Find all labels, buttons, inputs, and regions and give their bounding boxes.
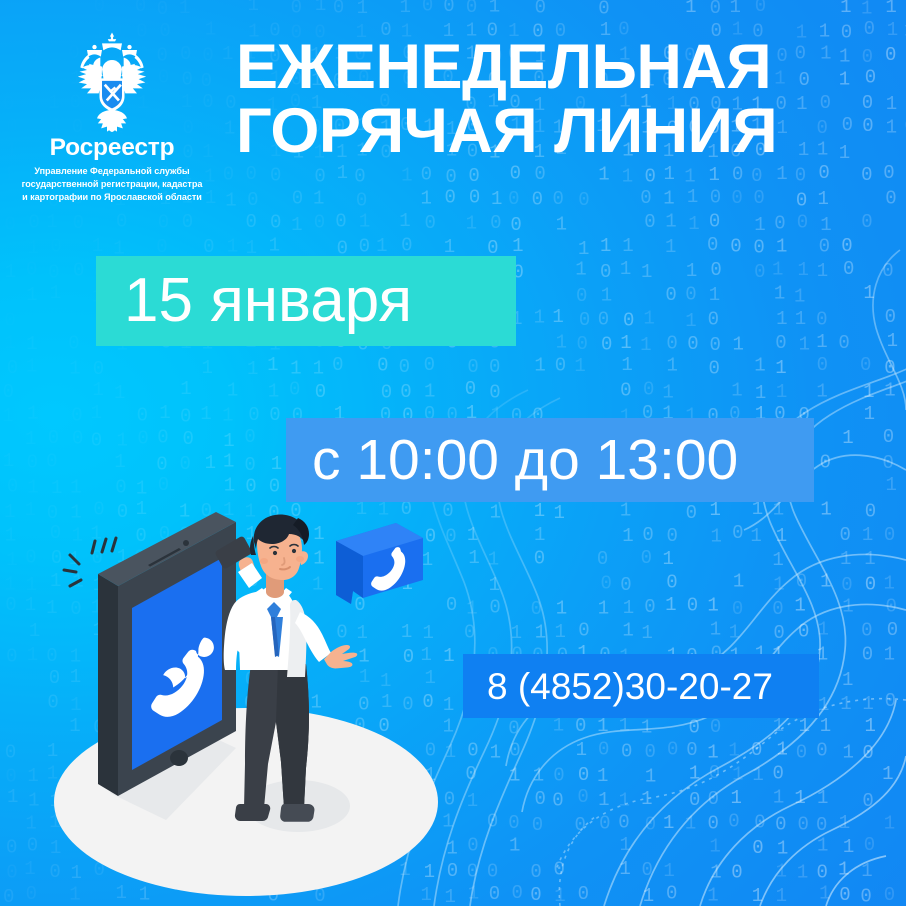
svg-text:0: 0 xyxy=(510,214,521,236)
svg-text:0: 0 xyxy=(601,334,612,356)
svg-text:0: 0 xyxy=(708,309,719,331)
svg-text:0: 0 xyxy=(48,262,59,284)
svg-text:1: 1 xyxy=(490,742,501,764)
svg-text:1: 1 xyxy=(886,474,897,496)
svg-text:0: 0 xyxy=(578,189,589,211)
svg-text:1: 1 xyxy=(28,789,39,811)
svg-text:1: 1 xyxy=(707,594,718,616)
svg-text:0: 0 xyxy=(598,309,609,331)
svg-text:1: 1 xyxy=(467,790,478,812)
svg-text:0: 0 xyxy=(642,859,653,881)
svg-text:0: 0 xyxy=(315,381,326,403)
svg-text:1: 1 xyxy=(884,813,895,835)
svg-text:0: 0 xyxy=(575,715,586,737)
svg-text:1: 1 xyxy=(46,211,57,233)
svg-text:0: 0 xyxy=(247,189,258,211)
svg-text:0: 0 xyxy=(137,427,148,449)
svg-text:1: 1 xyxy=(578,238,589,260)
svg-text:1: 1 xyxy=(820,499,831,521)
svg-text:0: 0 xyxy=(885,44,896,66)
svg-text:1: 1 xyxy=(467,524,478,546)
svg-text:1: 1 xyxy=(685,310,696,332)
svg-text:0: 0 xyxy=(445,525,456,547)
svg-text:0: 0 xyxy=(728,811,739,833)
svg-text:0: 0 xyxy=(26,883,37,905)
date-text: 15 января xyxy=(124,270,412,332)
svg-text:0: 0 xyxy=(158,474,169,496)
svg-text:0: 0 xyxy=(578,764,589,786)
svg-text:1: 1 xyxy=(667,354,678,376)
svg-text:0: 0 xyxy=(534,163,545,185)
svg-text:0: 0 xyxy=(754,812,765,834)
svg-text:1: 1 xyxy=(620,500,631,522)
svg-text:0: 0 xyxy=(425,212,436,234)
svg-text:1: 1 xyxy=(622,620,633,642)
svg-text:0: 0 xyxy=(860,354,871,376)
svg-text:0: 0 xyxy=(862,790,873,812)
svg-text:1: 1 xyxy=(641,717,652,739)
svg-text:1: 1 xyxy=(799,715,810,737)
svg-text:0: 0 xyxy=(598,738,609,760)
svg-text:1: 1 xyxy=(26,333,37,355)
svg-text:1: 1 xyxy=(773,573,784,595)
svg-text:1: 1 xyxy=(864,403,875,425)
svg-text:1: 1 xyxy=(489,0,500,18)
svg-text:1: 1 xyxy=(92,379,103,401)
svg-text:0: 0 xyxy=(443,0,454,17)
speech-bubble xyxy=(336,523,423,604)
svg-text:0: 0 xyxy=(709,357,720,379)
headline-line-1: ЕЖЕНЕДЕЛЬНАЯ xyxy=(236,36,886,98)
svg-text:0: 0 xyxy=(445,166,456,188)
svg-text:0: 0 xyxy=(3,886,14,906)
svg-text:0: 0 xyxy=(710,259,721,281)
svg-text:1: 1 xyxy=(224,117,235,139)
svg-text:1: 1 xyxy=(26,284,37,306)
svg-text:1: 1 xyxy=(798,259,809,281)
svg-text:1: 1 xyxy=(136,478,147,500)
time-text: с 10:00 до 13:00 xyxy=(312,432,738,489)
svg-text:1: 1 xyxy=(884,380,895,402)
svg-text:0: 0 xyxy=(841,235,852,257)
svg-text:0: 0 xyxy=(578,883,589,905)
svg-text:1: 1 xyxy=(840,693,851,715)
svg-text:0: 0 xyxy=(467,834,478,856)
svg-text:1: 1 xyxy=(886,93,897,115)
svg-text:1: 1 xyxy=(509,764,520,786)
svg-text:1: 1 xyxy=(862,524,873,546)
svg-text:0: 0 xyxy=(641,547,652,569)
svg-text:1: 1 xyxy=(820,214,831,236)
svg-text:0: 0 xyxy=(554,859,565,881)
svg-text:0: 0 xyxy=(644,596,655,618)
svg-text:0: 0 xyxy=(381,381,392,403)
svg-text:1: 1 xyxy=(179,0,190,19)
svg-text:0: 0 xyxy=(26,258,37,280)
svg-text:0: 0 xyxy=(424,354,435,376)
svg-text:1: 1 xyxy=(794,787,805,809)
svg-text:1: 1 xyxy=(444,236,455,258)
svg-text:1: 1 xyxy=(443,694,454,716)
svg-text:0: 0 xyxy=(710,716,721,738)
svg-text:1: 1 xyxy=(665,594,676,616)
svg-text:0: 0 xyxy=(291,0,302,19)
svg-text:0: 0 xyxy=(157,426,168,448)
svg-text:1: 1 xyxy=(622,166,633,188)
svg-text:1: 1 xyxy=(359,211,370,233)
svg-text:1: 1 xyxy=(776,163,787,185)
svg-text:1: 1 xyxy=(755,382,766,404)
svg-text:0: 0 xyxy=(157,0,168,20)
svg-text:1: 1 xyxy=(687,186,698,208)
svg-text:0: 0 xyxy=(530,884,541,906)
svg-text:0: 0 xyxy=(465,763,476,785)
svg-text:1: 1 xyxy=(69,358,80,380)
svg-text:0: 0 xyxy=(621,740,632,762)
svg-text:1: 1 xyxy=(27,476,38,498)
svg-text:1: 1 xyxy=(732,763,743,785)
right-hand xyxy=(324,645,357,668)
svg-text:1: 1 xyxy=(2,405,13,427)
svg-text:1: 1 xyxy=(621,354,632,376)
svg-text:1: 1 xyxy=(817,260,828,282)
svg-text:1: 1 xyxy=(534,307,545,329)
svg-text:0: 0 xyxy=(553,765,564,787)
svg-text:1: 1 xyxy=(4,501,15,523)
svg-text:0: 0 xyxy=(332,354,343,376)
svg-text:0: 0 xyxy=(731,861,742,883)
svg-text:1: 1 xyxy=(552,306,563,328)
svg-text:1: 1 xyxy=(28,237,39,259)
svg-text:1: 1 xyxy=(861,860,872,882)
svg-text:0: 0 xyxy=(530,861,541,883)
phone-band[interactable]: 8 (4852)30-20-27 xyxy=(463,654,819,718)
svg-text:0: 0 xyxy=(422,0,433,17)
svg-text:1: 1 xyxy=(267,354,278,376)
svg-text:0: 0 xyxy=(620,379,631,401)
svg-text:1: 1 xyxy=(600,235,611,257)
svg-text:1: 1 xyxy=(775,357,786,379)
svg-text:0: 0 xyxy=(708,788,719,810)
svg-text:1: 1 xyxy=(663,548,674,570)
man-calling-hotline-illustration xyxy=(48,512,438,906)
svg-text:0: 0 xyxy=(882,260,893,282)
svg-text:0: 0 xyxy=(27,452,38,474)
svg-text:1: 1 xyxy=(27,644,38,666)
svg-text:0: 0 xyxy=(93,358,104,380)
svg-text:0: 0 xyxy=(156,453,167,475)
svg-text:1: 1 xyxy=(664,163,675,185)
svg-text:0: 0 xyxy=(887,619,898,641)
svg-text:1: 1 xyxy=(180,378,191,400)
svg-text:1: 1 xyxy=(865,715,876,737)
svg-text:1: 1 xyxy=(247,358,258,380)
svg-text:1: 1 xyxy=(731,787,742,809)
svg-text:0: 0 xyxy=(158,211,169,233)
svg-text:1: 1 xyxy=(773,715,784,737)
svg-text:0: 0 xyxy=(816,308,827,330)
svg-text:1: 1 xyxy=(223,451,234,473)
svg-text:1: 1 xyxy=(777,838,788,860)
svg-text:1: 1 xyxy=(598,164,609,186)
svg-text:1: 1 xyxy=(4,332,15,354)
svg-text:0: 0 xyxy=(667,525,678,547)
svg-text:1: 1 xyxy=(313,187,324,209)
svg-text:1: 1 xyxy=(620,332,631,354)
svg-text:1: 1 xyxy=(794,595,805,617)
svg-text:1: 1 xyxy=(794,285,805,307)
svg-text:0: 0 xyxy=(356,189,367,211)
svg-text:0: 0 xyxy=(773,763,784,785)
svg-text:0: 0 xyxy=(666,883,677,905)
svg-text:0: 0 xyxy=(774,213,785,235)
svg-text:1: 1 xyxy=(4,573,15,595)
svg-text:0: 0 xyxy=(775,814,786,836)
svg-text:1: 1 xyxy=(685,0,696,18)
svg-text:0: 0 xyxy=(512,882,523,904)
svg-text:1: 1 xyxy=(752,764,763,786)
svg-text:1: 1 xyxy=(227,235,238,257)
svg-text:0: 0 xyxy=(839,884,850,906)
svg-text:1: 1 xyxy=(842,669,853,691)
svg-text:0: 0 xyxy=(354,166,365,188)
svg-text:0: 0 xyxy=(795,165,806,187)
svg-text:1: 1 xyxy=(887,19,898,41)
svg-text:1: 1 xyxy=(842,427,853,449)
svg-text:0: 0 xyxy=(534,548,545,570)
svg-text:1: 1 xyxy=(3,164,14,186)
svg-text:1: 1 xyxy=(6,549,17,571)
svg-text:0: 0 xyxy=(91,430,102,452)
svg-text:1: 1 xyxy=(776,885,787,906)
svg-text:1: 1 xyxy=(641,261,652,283)
svg-text:1: 1 xyxy=(3,450,14,472)
svg-text:1: 1 xyxy=(205,452,216,474)
svg-text:0: 0 xyxy=(246,211,257,233)
svg-text:1: 1 xyxy=(622,235,633,257)
svg-text:1: 1 xyxy=(421,187,432,209)
svg-text:0: 0 xyxy=(487,810,498,832)
svg-text:1: 1 xyxy=(777,739,788,761)
svg-text:1: 1 xyxy=(730,0,741,18)
svg-text:0: 0 xyxy=(864,834,875,856)
svg-text:1: 1 xyxy=(776,235,787,257)
svg-text:0: 0 xyxy=(645,741,656,763)
svg-text:1: 1 xyxy=(534,500,545,522)
svg-text:0: 0 xyxy=(732,522,743,544)
svg-text:0: 0 xyxy=(508,188,519,210)
svg-text:1: 1 xyxy=(709,164,720,186)
svg-text:0: 0 xyxy=(156,236,167,258)
svg-text:0: 0 xyxy=(535,0,546,18)
svg-text:0: 0 xyxy=(600,261,611,283)
svg-text:0: 0 xyxy=(819,236,830,258)
svg-text:0: 0 xyxy=(246,163,257,185)
svg-text:0: 0 xyxy=(817,354,828,376)
svg-text:1: 1 xyxy=(268,381,279,403)
svg-text:0: 0 xyxy=(884,357,895,379)
svg-text:1: 1 xyxy=(442,810,453,832)
svg-text:0: 0 xyxy=(73,212,84,234)
svg-text:0: 0 xyxy=(532,188,543,210)
svg-text:0: 0 xyxy=(71,404,82,426)
svg-text:0: 0 xyxy=(6,646,17,668)
svg-text:0: 0 xyxy=(94,0,105,17)
svg-text:1: 1 xyxy=(466,597,477,619)
svg-text:1: 1 xyxy=(643,307,654,329)
svg-text:0: 0 xyxy=(838,332,849,354)
svg-text:1: 1 xyxy=(620,258,631,280)
svg-text:0: 0 xyxy=(467,740,478,762)
svg-text:0: 0 xyxy=(730,236,741,258)
svg-text:1: 1 xyxy=(468,547,479,569)
svg-text:0: 0 xyxy=(28,212,39,234)
svg-text:0: 0 xyxy=(883,162,894,184)
svg-text:1: 1 xyxy=(838,859,849,881)
svg-text:1: 1 xyxy=(400,0,411,18)
svg-text:0: 0 xyxy=(666,572,677,594)
svg-text:0: 0 xyxy=(116,211,127,233)
svg-text:1: 1 xyxy=(733,570,744,592)
svg-text:0: 0 xyxy=(773,622,784,644)
svg-text:0: 0 xyxy=(601,572,612,594)
svg-text:0: 0 xyxy=(135,0,146,17)
svg-text:0: 0 xyxy=(25,546,36,568)
svg-text:0: 0 xyxy=(865,500,876,522)
svg-text:1: 1 xyxy=(863,282,874,304)
svg-text:1: 1 xyxy=(401,165,412,187)
svg-text:1: 1 xyxy=(619,789,630,811)
svg-text:0: 0 xyxy=(732,598,743,620)
svg-text:0: 0 xyxy=(796,190,807,212)
svg-text:0: 0 xyxy=(865,574,876,596)
svg-text:1: 1 xyxy=(512,235,523,257)
svg-text:1: 1 xyxy=(597,765,608,787)
svg-text:0: 0 xyxy=(643,379,654,401)
svg-text:1: 1 xyxy=(816,380,827,402)
svg-text:0: 0 xyxy=(137,405,148,427)
svg-text:0: 0 xyxy=(335,210,346,232)
svg-text:0: 0 xyxy=(861,211,872,233)
svg-text:0: 0 xyxy=(225,92,236,114)
russian-double-headed-eagle-emblem xyxy=(62,30,162,132)
svg-text:1: 1 xyxy=(754,214,765,236)
svg-text:1: 1 xyxy=(534,524,545,546)
svg-text:1: 1 xyxy=(843,836,854,858)
svg-text:1: 1 xyxy=(885,0,896,18)
svg-text:1: 1 xyxy=(773,786,784,808)
svg-text:0: 0 xyxy=(7,475,18,497)
svg-text:0: 0 xyxy=(555,354,566,376)
svg-text:1: 1 xyxy=(91,402,102,424)
svg-text:1: 1 xyxy=(685,812,696,834)
svg-text:1: 1 xyxy=(863,381,874,403)
svg-text:1: 1 xyxy=(641,622,652,644)
svg-text:0: 0 xyxy=(883,452,894,474)
svg-text:0: 0 xyxy=(270,211,281,233)
svg-text:1: 1 xyxy=(684,165,695,187)
svg-text:1: 1 xyxy=(554,885,565,906)
svg-text:0: 0 xyxy=(599,813,610,835)
svg-text:0: 0 xyxy=(509,740,520,762)
svg-text:0: 0 xyxy=(667,739,678,761)
svg-text:0: 0 xyxy=(465,378,476,400)
svg-text:1: 1 xyxy=(7,786,18,808)
svg-text:1: 1 xyxy=(491,188,502,210)
svg-text:0: 0 xyxy=(377,354,388,376)
svg-text:1: 1 xyxy=(575,259,586,281)
svg-text:0: 0 xyxy=(72,428,83,450)
svg-text:0: 0 xyxy=(798,813,809,835)
svg-text:0: 0 xyxy=(843,258,854,280)
svg-text:1: 1 xyxy=(114,382,125,404)
svg-text:1: 1 xyxy=(840,0,851,18)
svg-text:1: 1 xyxy=(622,525,633,547)
svg-text:1: 1 xyxy=(511,622,522,644)
svg-text:1: 1 xyxy=(556,598,567,620)
svg-text:1: 1 xyxy=(820,571,831,593)
svg-text:1: 1 xyxy=(117,430,128,452)
svg-text:1: 1 xyxy=(445,886,456,906)
svg-text:0: 0 xyxy=(444,789,455,811)
svg-text:1: 1 xyxy=(488,549,499,571)
svg-text:1: 1 xyxy=(662,382,673,404)
svg-text:0: 0 xyxy=(469,187,480,209)
svg-text:0: 0 xyxy=(466,0,477,18)
svg-text:0: 0 xyxy=(399,356,410,378)
svg-text:1: 1 xyxy=(424,380,435,402)
svg-text:1: 1 xyxy=(752,885,763,906)
svg-text:0: 0 xyxy=(666,333,677,355)
svg-text:0: 0 xyxy=(27,834,38,856)
svg-text:0: 0 xyxy=(772,598,783,620)
svg-text:1: 1 xyxy=(223,430,234,452)
svg-text:1: 1 xyxy=(443,715,454,737)
svg-text:0: 0 xyxy=(244,454,255,476)
svg-text:0: 0 xyxy=(754,261,765,283)
svg-text:0: 0 xyxy=(400,381,411,403)
svg-text:0: 0 xyxy=(489,597,500,619)
svg-text:0: 0 xyxy=(401,234,412,256)
svg-text:0: 0 xyxy=(709,210,720,232)
svg-text:1: 1 xyxy=(5,524,16,546)
svg-text:1: 1 xyxy=(882,763,893,785)
svg-text:0: 0 xyxy=(883,426,894,448)
svg-text:0: 0 xyxy=(508,812,519,834)
svg-text:0: 0 xyxy=(689,789,700,811)
svg-text:1: 1 xyxy=(754,355,765,377)
svg-text:0: 0 xyxy=(183,428,194,450)
svg-text:1: 1 xyxy=(729,622,740,644)
svg-text:1: 1 xyxy=(623,597,634,619)
svg-text:0: 0 xyxy=(115,476,126,498)
svg-text:0: 0 xyxy=(6,836,17,858)
svg-text:0: 0 xyxy=(797,212,808,234)
svg-text:1: 1 xyxy=(446,838,457,860)
svg-text:0: 0 xyxy=(7,357,18,379)
svg-text:1: 1 xyxy=(534,355,545,377)
svg-text:0: 0 xyxy=(751,739,762,761)
svg-text:0: 0 xyxy=(489,382,500,404)
svg-text:0: 0 xyxy=(531,598,542,620)
svg-text:1: 1 xyxy=(556,331,567,353)
svg-text:0: 0 xyxy=(269,475,280,497)
svg-text:0: 0 xyxy=(623,309,634,331)
svg-text:1: 1 xyxy=(772,258,783,280)
svg-text:0: 0 xyxy=(689,717,700,739)
svg-text:1: 1 xyxy=(224,475,235,497)
svg-text:1: 1 xyxy=(886,117,897,139)
